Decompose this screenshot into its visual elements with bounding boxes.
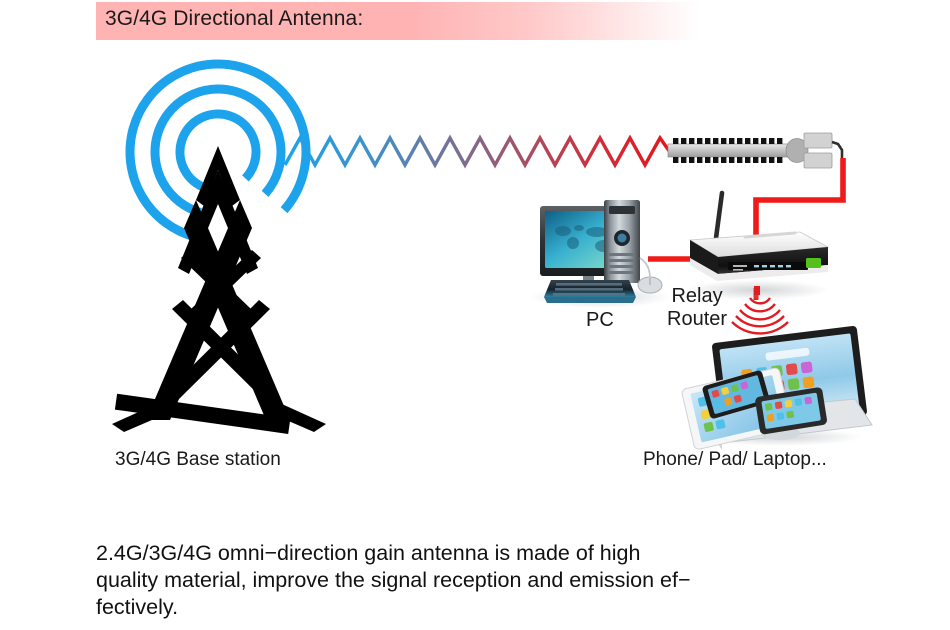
desktop-computer-icon (530, 200, 670, 308)
yagi-antenna-icon (668, 133, 842, 168)
air-signal-link (268, 138, 680, 165)
network-diagram (0, 0, 950, 630)
relay-router-caption: Relay Router (667, 285, 727, 331)
router-status-indicator (806, 258, 821, 268)
antenna-to-router-cable (756, 158, 843, 300)
description-line-1: 2.4G/3G/4G omni−direction gain antenna i… (96, 540, 836, 567)
laptop-tablet-phone-icon (681, 326, 872, 451)
pc-caption: PC (586, 309, 614, 332)
description-paragraph: 2.4G/3G/4G omni−direction gain antenna i… (96, 540, 836, 621)
base-station-caption: 3G/4G Base station (115, 449, 281, 471)
client-devices-caption: Phone/ Pad/ Laptop... (643, 449, 827, 471)
description-line-3: fectively. (96, 594, 836, 621)
description-line-2: quality material, improve the signal rec… (96, 567, 836, 594)
slide-canvas: 3G/4G Directional Antenna: (0, 0, 950, 630)
relay-router-caption-line1: Relay (667, 285, 727, 308)
relay-router-caption-line2: Router (667, 308, 727, 331)
